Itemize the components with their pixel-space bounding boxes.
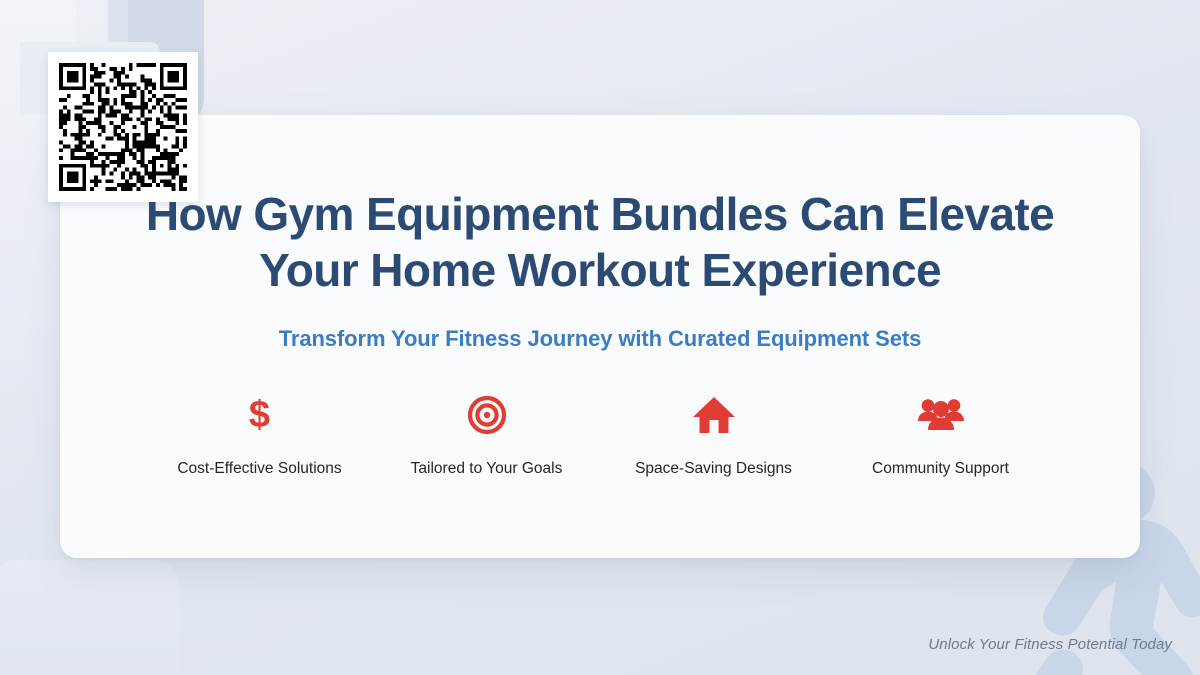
feature-label: Space-Saving Designs bbox=[635, 460, 792, 478]
house-icon bbox=[692, 394, 736, 436]
feature-item-space-saving-designs: Space-Saving Designs bbox=[600, 394, 827, 478]
feature-label: Tailored to Your Goals bbox=[411, 460, 563, 478]
people-group-icon bbox=[917, 394, 965, 436]
content-card: How Gym Equipment Bundles Can Elevate Yo… bbox=[60, 115, 1140, 558]
feature-label: Cost-Effective Solutions bbox=[177, 460, 341, 478]
feature-label: Community Support bbox=[872, 460, 1009, 478]
qr-code[interactable] bbox=[48, 52, 198, 202]
feature-item-community-support: Community Support bbox=[827, 394, 1054, 478]
feature-item-cost-effective-solutions: $ Cost-Effective Solutions bbox=[146, 394, 373, 478]
page-subtitle: Transform Your Fitness Journey with Cura… bbox=[279, 326, 922, 352]
bg-shape-bottom-left bbox=[0, 560, 180, 675]
feature-item-tailored-to-your-goals: Tailored to Your Goals bbox=[373, 394, 600, 478]
target-bullseye-icon bbox=[467, 394, 507, 436]
poster-canvas: How Gym Equipment Bundles Can Elevate Yo… bbox=[0, 0, 1200, 675]
qr-code-image bbox=[59, 63, 187, 191]
page-title: How Gym Equipment Bundles Can Elevate Yo… bbox=[140, 187, 1060, 298]
feature-list: $ Cost-Effective Solutions Tailored to Y… bbox=[112, 394, 1088, 478]
dollar-sign-icon: $ bbox=[249, 394, 270, 436]
footer-tagline: Unlock Your Fitness Potential Today bbox=[928, 636, 1172, 653]
